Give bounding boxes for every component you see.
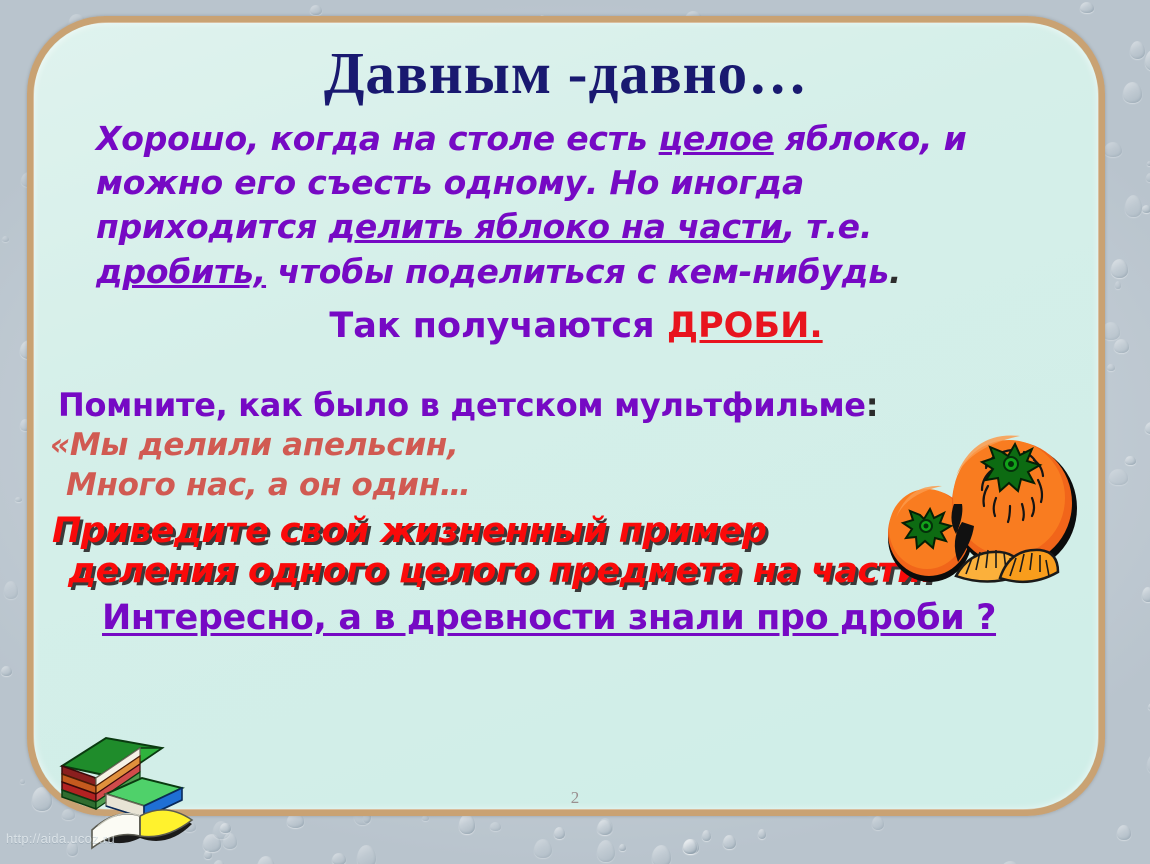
source-watermark: http://aida.ucoz.ru <box>6 831 115 846</box>
water-droplet <box>1104 142 1122 158</box>
water-droplet <box>702 830 711 841</box>
water-droplet <box>758 829 766 839</box>
water-droplet <box>459 814 475 833</box>
cartoon-lead: Помните, как было в детском мультфильме: <box>34 386 1098 424</box>
water-droplet <box>554 827 565 839</box>
intro-line3-b: , т.е. <box>783 207 872 246</box>
result-highlight-fractions: ДРОБИ. <box>667 306 823 346</box>
intro-line1-b: яблоко, и <box>774 119 967 158</box>
water-droplet <box>597 820 612 836</box>
water-droplet <box>597 840 614 862</box>
water-droplet <box>1125 456 1136 466</box>
oranges-illustration <box>884 426 1090 624</box>
water-droplet <box>1114 339 1130 354</box>
water-droplet <box>1146 173 1150 182</box>
water-droplet <box>723 835 735 849</box>
water-droplet <box>257 856 275 864</box>
water-droplet <box>619 844 626 852</box>
water-droplet <box>310 5 322 16</box>
water-droplet <box>1145 49 1150 71</box>
water-droplet <box>357 845 375 864</box>
page-number: 2 <box>0 788 1150 808</box>
intro-keyword-divide: делить яблоко на части <box>328 207 782 246</box>
water-droplet <box>4 581 19 599</box>
water-droplet <box>683 839 697 854</box>
water-droplet <box>2 236 8 242</box>
water-droplet <box>1125 195 1142 217</box>
intro-keyword-whole: целое <box>659 119 774 158</box>
result-prefix: Так получаются <box>329 306 666 346</box>
page-title: Давным -давно… <box>34 44 1098 103</box>
cartoon-quote-line1: «Мы делили апельсин, <box>50 427 459 463</box>
water-droplet <box>1080 2 1095 14</box>
task-line1: Приведите свой жизненный пример <box>52 511 766 551</box>
water-droplet <box>872 816 884 830</box>
water-droplet <box>652 845 671 864</box>
intro-line4-dot: . <box>889 252 901 291</box>
cartoon-lead-text: Помните, как было в детском мультфильме <box>58 386 866 424</box>
water-droplet <box>1142 587 1150 602</box>
water-droplet <box>683 839 699 855</box>
task-line2: деления одного целого предмета на части. <box>52 551 934 591</box>
water-droplet <box>534 839 551 858</box>
water-droplet <box>1130 41 1145 59</box>
water-droplet <box>1145 422 1150 434</box>
water-droplet <box>1111 259 1128 278</box>
water-droplet <box>598 818 613 835</box>
water-droplet <box>15 497 22 503</box>
cartoon-lead-colon: : <box>866 386 879 424</box>
water-droplet <box>332 853 345 864</box>
intro-line1-a: Хорошо, когда на столе есть <box>96 119 659 158</box>
water-droplet <box>20 779 26 784</box>
water-droplet <box>1117 825 1131 840</box>
water-droplet <box>213 860 225 864</box>
slide-content: Давным -давно… Хорошо, когда на столе ес… <box>34 22 1098 810</box>
water-droplet <box>490 822 501 830</box>
water-droplet <box>1 666 12 676</box>
water-droplet <box>1109 469 1128 485</box>
intro-line2: можно его съесть одному. Но иногда <box>96 163 804 202</box>
closing-question-text: Интересно, а в древности знали про дроби… <box>102 598 996 638</box>
slide-canvas: Давным -давно… Хорошо, когда на столе ес… <box>0 0 1150 864</box>
intro-line4-b: чтобы поделиться с кем-нибудь <box>266 252 889 291</box>
water-droplet <box>1115 281 1121 289</box>
intro-paragraph: Хорошо, когда на столе есть целое яблоко… <box>34 117 1098 294</box>
water-droplet <box>1107 364 1115 371</box>
intro-keyword-fraction: дробить, <box>96 252 266 291</box>
intro-line3-a: приходится <box>96 207 328 246</box>
water-droplet <box>1142 205 1150 213</box>
result-line: Так получаются ДРОБИ. <box>34 306 1098 346</box>
cartoon-quote-line2: Много нас, а он один… <box>50 466 471 506</box>
water-droplet <box>1123 82 1143 103</box>
